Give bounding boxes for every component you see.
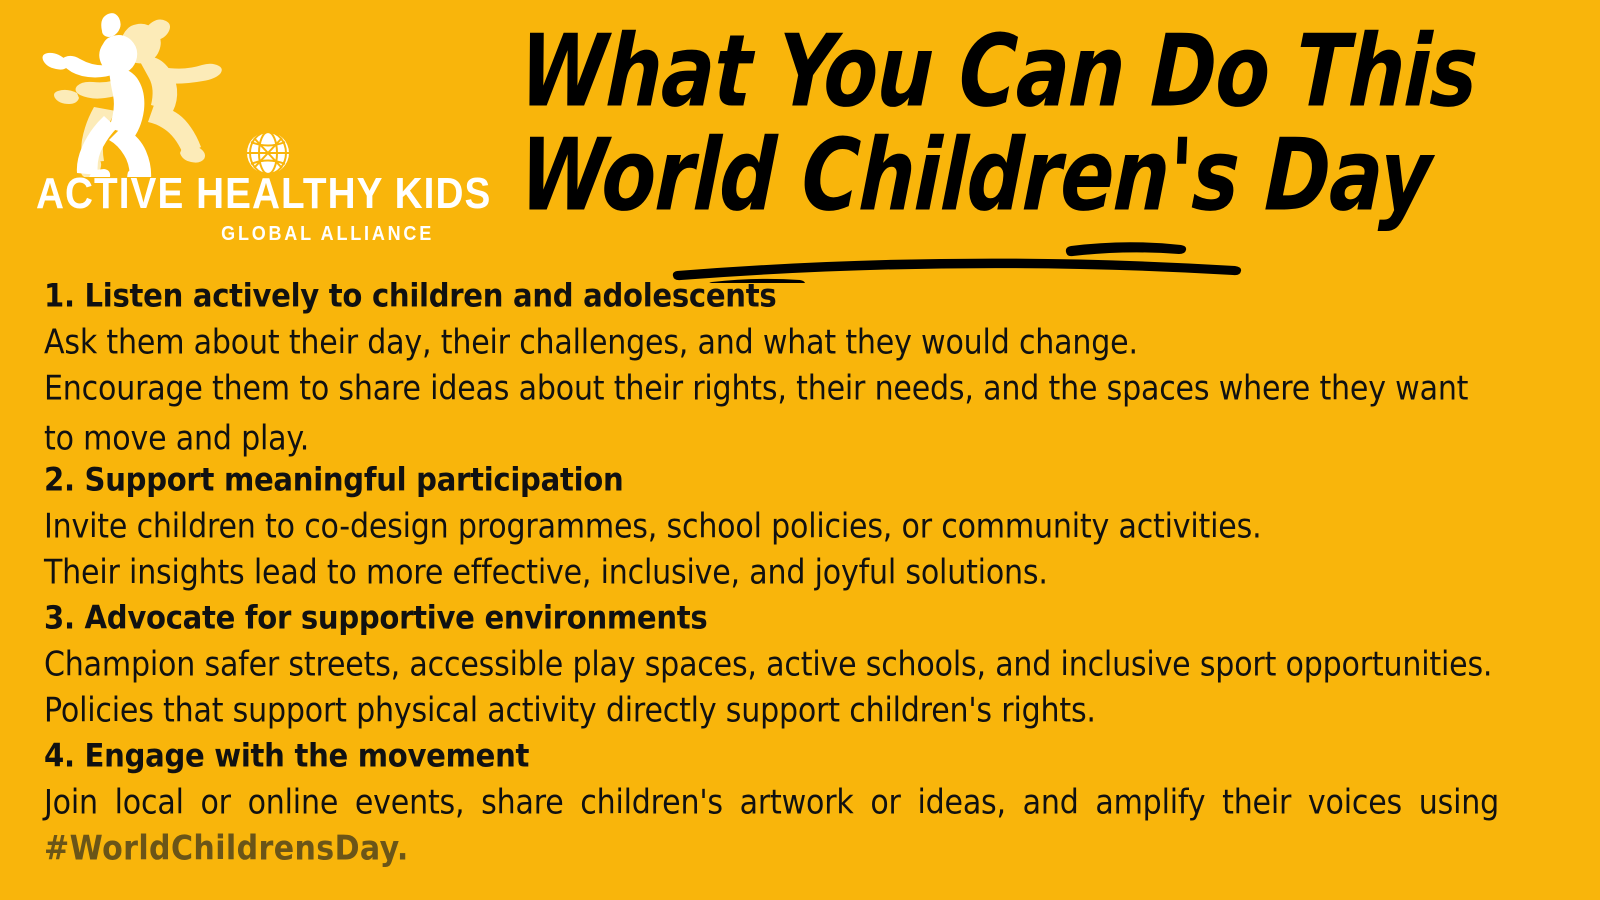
poster-canvas: ACTIVE HEALTHY KIDS GLOBAL ALLIANCE What…	[0, 0, 1600, 900]
title-line-1: What You Can Do This	[518, 22, 1479, 122]
body-text-2-1: Invite children to co-design programmes,…	[44, 502, 1489, 552]
poster-title: What You Can Do This World Children's Da…	[470, 8, 1580, 263]
body-heading-1: 1. Listen actively to children and adole…	[44, 272, 1489, 322]
body-hashtag: #WorldChildrensDay.	[44, 824, 1489, 874]
body-text-4-1: Join local or online events, share child…	[44, 778, 1499, 828]
body-text-2-2: Their insights lead to more effective, i…	[44, 548, 1489, 598]
poster-body: 1. Listen actively to children and adole…	[44, 272, 1534, 870]
logo-wordmark: ACTIVE HEALTHY KIDS GLOBAL ALLIANCE	[36, 172, 436, 246]
body-text-1-2: Encourage them to share ideas about thei…	[44, 364, 1489, 463]
title-line-2: World Children's Day	[518, 126, 1433, 226]
running-children-icon	[34, 12, 224, 177]
body-text-3-2: Policies that support physical activity …	[44, 686, 1489, 736]
active-healthy-kids-logo: ACTIVE HEALTHY KIDS GLOBAL ALLIANCE	[34, 12, 454, 247]
logo-name: ACTIVE HEALTHY KIDS	[36, 172, 388, 216]
body-heading-2: 2. Support meaningful participation	[44, 456, 1489, 506]
body-heading-4: 4. Engage with the movement	[44, 732, 1489, 782]
body-text-3-1: Champion safer streets, accessible play …	[44, 640, 1489, 690]
body-heading-3: 3. Advocate for supportive environments	[44, 594, 1489, 644]
body-text-1-1: Ask them about their day, their challeng…	[44, 318, 1489, 368]
logo-subtitle: GLOBAL ALLIANCE	[76, 223, 434, 246]
